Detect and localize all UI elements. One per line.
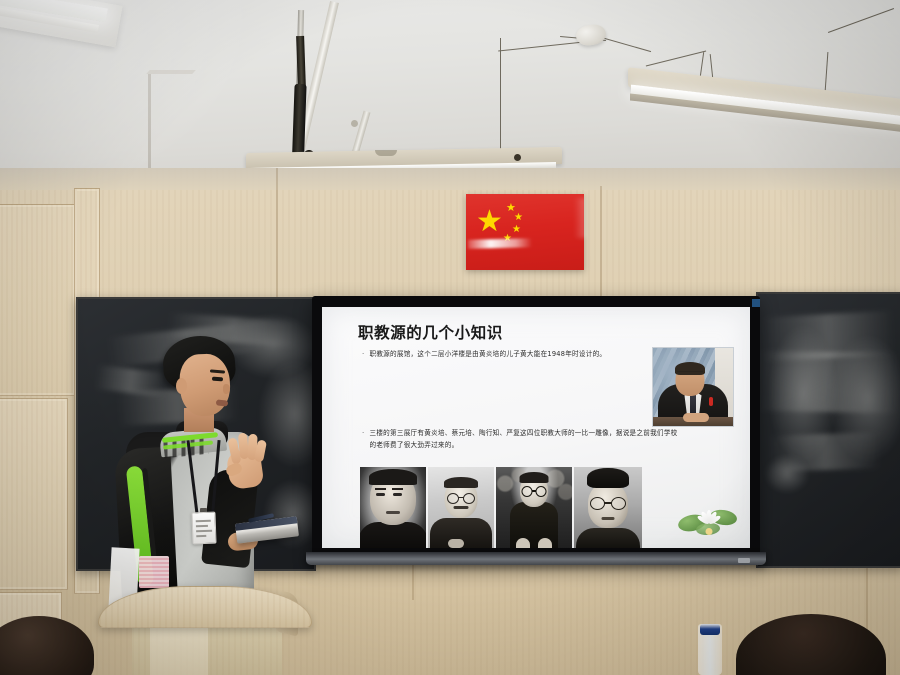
photo-hand (448, 539, 464, 548)
ceiling (0, 0, 900, 176)
photo-knee (516, 538, 530, 548)
ceiling-wire-c (601, 37, 651, 52)
display-stand-bar (306, 552, 766, 565)
photo-robe (576, 528, 640, 548)
photo-eye (393, 493, 402, 496)
wooden-lectern (98, 586, 310, 675)
presenter-eye (212, 377, 223, 382)
photo-eye (376, 493, 385, 496)
wall-seam-right (600, 186, 602, 298)
display-corner-accent (752, 299, 760, 307)
portrait-hands (683, 413, 709, 422)
cabinet-door-middle[interactable] (0, 398, 68, 590)
presenter-ear (176, 378, 187, 394)
rod-fitting (351, 120, 358, 127)
photo-robe (360, 522, 426, 548)
chinese-national-flag: ★ ★ ★ ★ ★ (466, 194, 584, 270)
wall-mounted-display[interactable]: 职教源的几个小知识 · 职教源的展馆，这个二层小洋楼是由黄炎培的儿子黄大能在19… (312, 296, 760, 564)
pink-box (139, 556, 169, 588)
bw-portrait-1 (360, 467, 426, 548)
ceiling-junction-box (575, 23, 607, 47)
bw-portrait-2 (428, 467, 494, 548)
flag-star-3: ★ (512, 225, 521, 235)
presenter-nose (223, 384, 230, 394)
ceiling-wire-h (828, 8, 894, 33)
photo-hair (520, 472, 549, 483)
bw-portrait-4 (574, 467, 642, 548)
ceiling-panel-top (146, 70, 196, 74)
slide-image-portrait-row (360, 467, 640, 548)
slide-bullet-2-text: 三楼的第三展厅有黄炎培、蔡元培、陶行知、严复这四位职教大师的一比一雕像，据说是之… (369, 428, 682, 451)
bullet-marker-icon: · (362, 428, 364, 439)
flag-star-large: ★ (476, 207, 503, 237)
badge-text-line (196, 525, 208, 527)
ceiling-wire-vertical (500, 38, 501, 166)
photo-cap (587, 468, 629, 488)
flag-glare-streak (468, 238, 532, 249)
wall-top-trim (0, 168, 900, 190)
cabinet-door-upper[interactable] (0, 204, 76, 396)
photo-brow (392, 488, 403, 490)
photo-hair (444, 477, 478, 488)
lotus-center (706, 528, 713, 535)
slide-bullet-1: · 职教源的展馆，这个二层小洋楼是由黄炎培的儿子黄大能在1948年时设计的。 (362, 349, 662, 361)
flag-field: ★ ★ ★ ★ ★ (466, 194, 584, 270)
badge-text-line (196, 520, 211, 522)
photo-moustache (454, 506, 469, 509)
photo-glasses-icon (522, 486, 547, 495)
photo-mouth (602, 517, 615, 520)
blackboard-right (756, 292, 900, 568)
wall-seam-lower (412, 560, 414, 600)
flag-edge-highlight (574, 198, 586, 238)
photo-brow (375, 488, 386, 490)
photo-mouth (386, 511, 400, 514)
photo-glasses-icon (447, 493, 475, 502)
fluorescent-lamp-right (628, 84, 900, 126)
lamp-notch (375, 150, 397, 156)
water-bottle-cap (700, 624, 720, 635)
chalk-smudge (764, 454, 810, 494)
lotus-flower-icon (678, 504, 740, 538)
display-brand-logo (738, 558, 750, 563)
photo-glasses-icon (590, 497, 626, 508)
portrait-glasses-icon (677, 371, 703, 379)
presenter-raised-hand (226, 432, 268, 488)
ceiling-wire-a (498, 42, 584, 52)
classroom-photo-scene: ★ ★ ★ ★ ★ 职教源的几个小知识 · 职教 (0, 0, 900, 675)
projector-cable-upper (296, 36, 306, 88)
photo-knee (538, 538, 552, 548)
portrait-lapel-pin (709, 397, 713, 406)
lamp-mount-hole (514, 154, 521, 161)
ceiling-wire-d (646, 51, 706, 67)
badge-text-line (196, 530, 212, 532)
presentation-slide: 职教源的几个小知识 · 职教源的展馆，这个二层小洋楼是由黄炎培的儿子黄大能在19… (322, 307, 750, 548)
fluorescent-lamp-top-left (0, 0, 123, 47)
bullet-marker-icon: · (362, 349, 364, 360)
slide-title: 职教源的几个小知识 (358, 321, 503, 343)
ceiling-panel-edge (148, 72, 151, 177)
lectern-inner-panel (150, 626, 208, 675)
wall-seam-left (276, 168, 278, 298)
slide-bullet-1-text: 职教源的展馆，这个二层小洋楼是由黄炎培的儿子黄大能在1948年时设计的。 (369, 349, 606, 361)
lanyard-id-badge (191, 512, 216, 545)
presenter-mouth (216, 399, 229, 406)
badge-text-line (196, 535, 206, 537)
lotus-bloom (698, 508, 720, 525)
slide-image-portrait-color (652, 347, 734, 427)
bw-portrait-3 (496, 467, 572, 548)
slide-bullet-2: · 三楼的第三展厅有黄炎培、蔡元培、陶行知、严复这四位职教大师的一比一雕像，据说… (362, 428, 682, 451)
flag-star-2: ★ (514, 213, 523, 223)
photo-hair (369, 469, 417, 485)
